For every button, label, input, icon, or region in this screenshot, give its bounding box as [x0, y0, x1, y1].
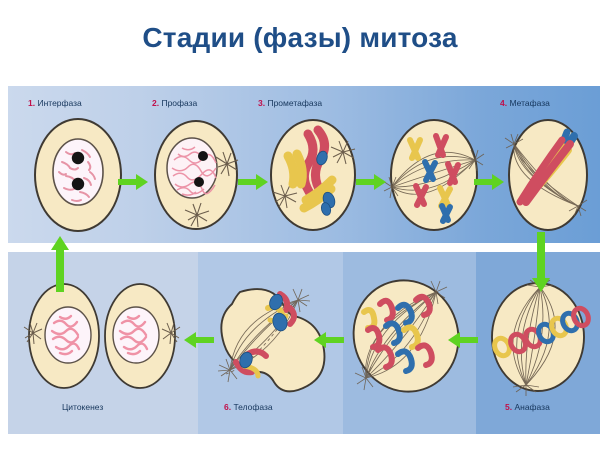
- arrow-interphase-to-prophase: [118, 174, 148, 190]
- stage-number-6: 6.: [224, 402, 231, 412]
- stage-label-prometaphase: 3. Прометафаза: [258, 98, 322, 108]
- stage-label-telophase: 6. Телофаза: [224, 402, 273, 412]
- stage-label-interphase: 1. Интерфаза: [28, 98, 82, 108]
- stage-number-4: 4.: [500, 98, 507, 108]
- arrow-lateanaphase-to-telophase: [314, 332, 344, 348]
- cell-diagram-metaphase: [498, 114, 598, 236]
- cell-diagram-prophase: [144, 116, 248, 236]
- arrow-spindle-to-metaphase: [474, 174, 504, 190]
- stage-number-2: 2.: [152, 98, 159, 108]
- arrow-prophase-to-prometaphase: [238, 174, 268, 190]
- stage-number-5: 5.: [505, 402, 512, 412]
- stage-label-metaphase: 4. Метафаза: [500, 98, 550, 108]
- arrow-cytokinesis-to-interphase: [51, 236, 69, 292]
- stage-number-1: 1.: [28, 98, 35, 108]
- arrow-telophase-to-cytokinesis: [184, 332, 214, 348]
- stage-label-prophase: 2. Профаза: [152, 98, 197, 108]
- stage-name-telophase: Телофаза: [233, 402, 272, 412]
- stage-name-cytokinesis: Цитокенез: [62, 402, 103, 412]
- cell-diagram-anaphase: [480, 277, 596, 397]
- cell-diagram-cytokinesis: [16, 277, 192, 395]
- cell-diagram-interphase: [26, 114, 130, 236]
- stage-number-3: 3.: [258, 98, 265, 108]
- stage-name-prometaphase: Прометафаза: [267, 98, 322, 108]
- slide-canvas: Стадии (фазы) митоза 1. Интерфаза 2. Про…: [0, 0, 600, 450]
- mitosis-top-row-panel: 1. Интерфаза 2. Профаза 3. Прометафаза 4…: [8, 86, 600, 243]
- stage-name-anaphase: Анафаза: [514, 402, 549, 412]
- page-title: Стадии (фазы) митоза: [0, 22, 600, 54]
- stage-name-interphase: Интерфаза: [37, 98, 81, 108]
- arrow-prometaphase-to-spindle: [356, 174, 386, 190]
- stage-label-anaphase: 5. Анафаза: [505, 402, 550, 412]
- stage-label-cytokinesis: Цитокенез: [62, 402, 103, 412]
- arrow-anaphase-to-lateanaphase: [448, 332, 478, 348]
- arrow-metaphase-to-anaphase: [532, 232, 550, 292]
- mitosis-bottom-row-panel: Цитокенез 6. Телофаза 5. Анафаза: [8, 252, 600, 434]
- cell-diagram-prometaphase: [260, 114, 366, 236]
- stage-name-prophase: Профаза: [161, 98, 197, 108]
- cell-diagram-spindle-attachment: [380, 114, 488, 236]
- stage-name-metaphase: Метафаза: [509, 98, 549, 108]
